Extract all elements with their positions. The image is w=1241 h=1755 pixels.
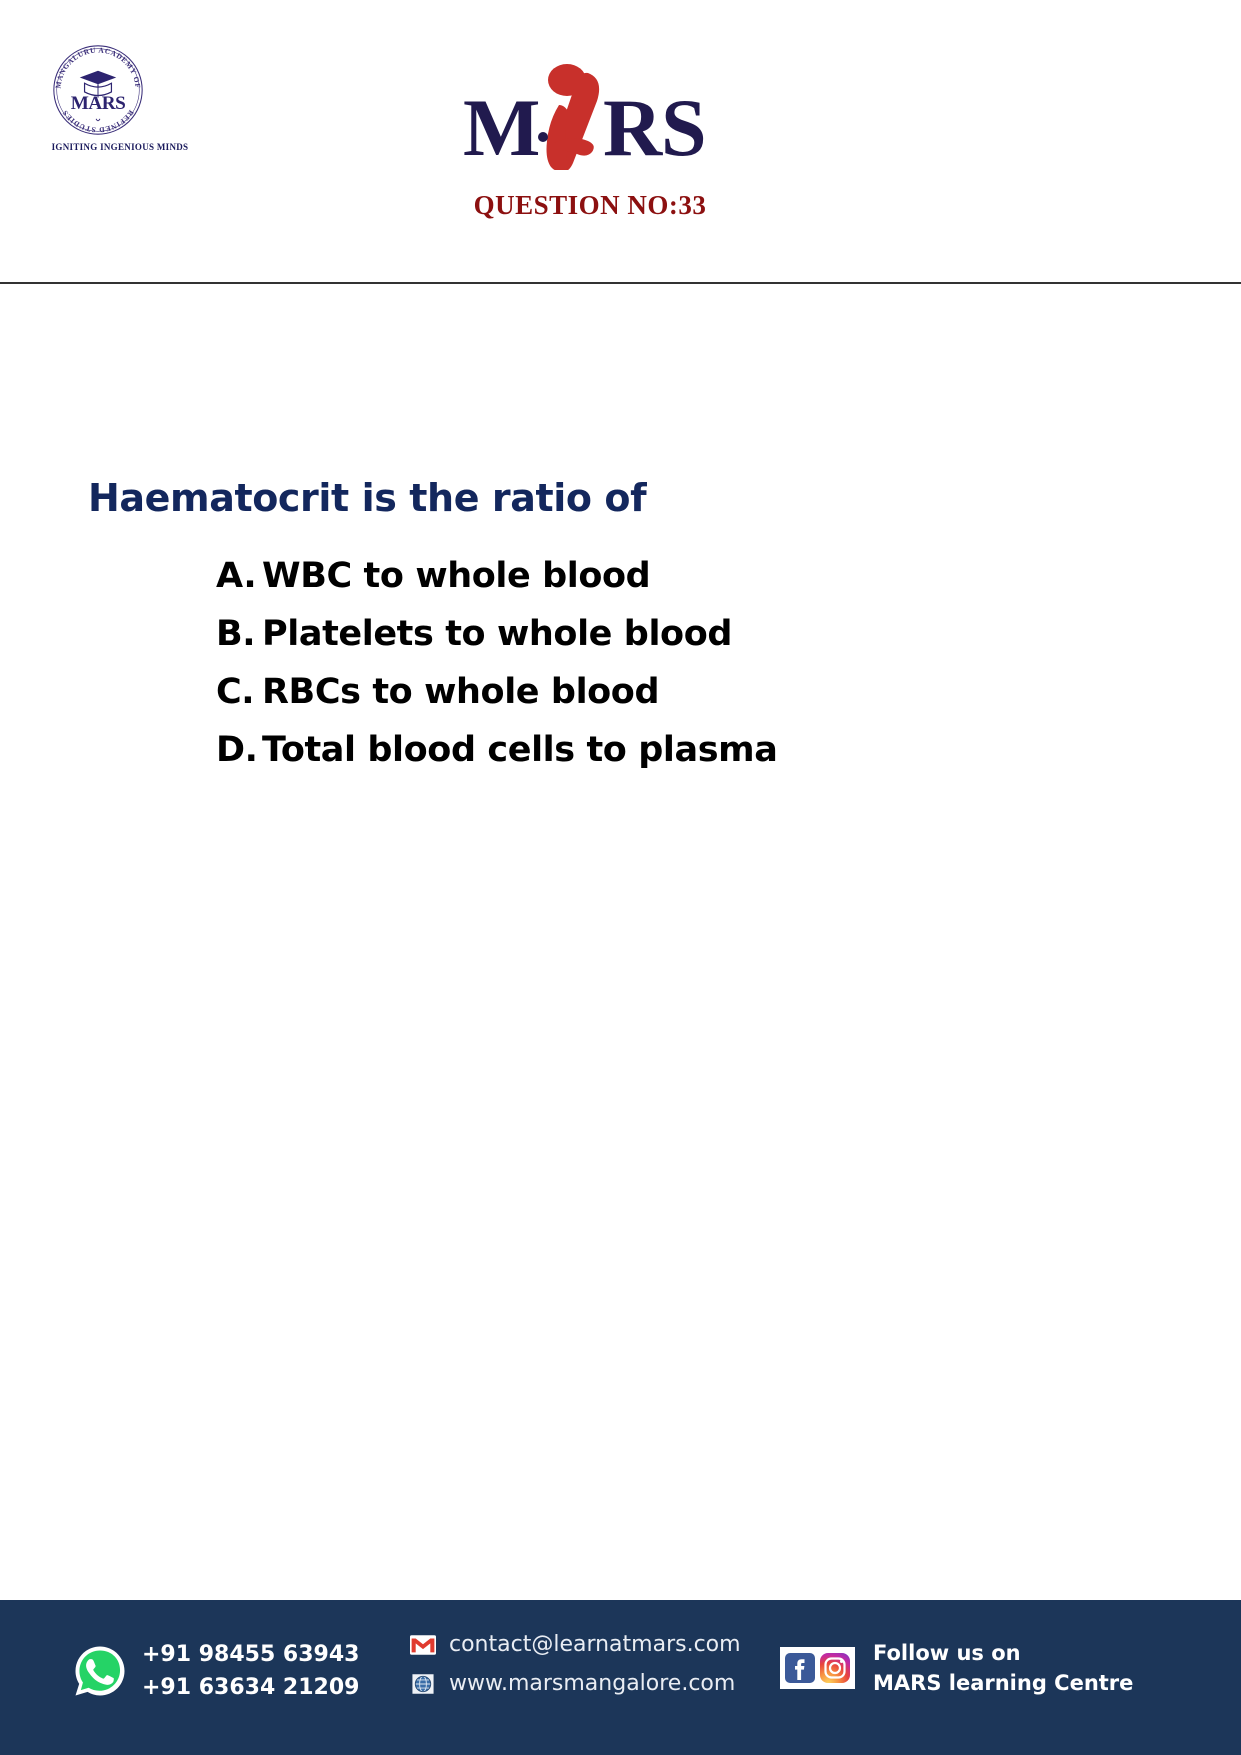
option-b[interactable]: B. Platelets to whole blood [216,614,1076,672]
mars-wordmark-icon: M R S [455,55,725,170]
option-d[interactable]: D. Total blood cells to plasma [216,730,1076,788]
globe-icon [410,1673,436,1695]
question-content: Haematocrit is the ratio of A. WBC to wh… [0,284,1241,1600]
academy-logo: MANGALURU ACADEMY OF REFINED STUDIES MAR… [40,42,200,167]
option-d-letter: D. [216,730,262,770]
gmail-icon [410,1634,436,1656]
option-c-text: RBCs to whole blood [262,672,659,712]
email-address: contact@learnatmars.com [449,1632,741,1657]
question-number-label: QUESTION NO:33 [0,190,1180,221]
page-footer: +91 98455 63943 +91 63634 21209 contact@… [0,1600,1241,1755]
option-d-text: Total blood cells to plasma [262,730,777,770]
social-icons-badge [780,1647,855,1689]
website-row[interactable]: www.marsmangalore.com [410,1671,741,1696]
social-caption: Follow us on MARS learning Centre [873,1638,1133,1698]
social-caption-line-2: MARS learning Centre [873,1668,1133,1698]
option-a[interactable]: A. WBC to whole blood [216,556,1076,614]
option-list: A. WBC to whole blood B. Platelets to wh… [216,556,1076,788]
footer-social-block: Follow us on MARS learning Centre [780,1638,1133,1698]
phone-number-2: +91 63634 21209 [142,1671,359,1704]
svg-text:MARS: MARS [71,93,126,114]
question-stem: Haematocrit is the ratio of [88,476,646,520]
phone-numbers: +91 98455 63943 +91 63634 21209 [142,1638,359,1704]
svg-text:M: M [463,82,540,170]
facebook-icon[interactable] [784,1652,816,1684]
svg-text:S: S [661,82,707,170]
option-c-letter: C. [216,672,262,712]
page-header: MANGALURU ACADEMY OF REFINED STUDIES MAR… [0,0,1241,284]
email-row[interactable]: contact@learnatmars.com [410,1632,741,1657]
website-url: www.marsmangalore.com [449,1671,735,1696]
option-b-letter: B. [216,614,262,654]
academy-tagline: IGNITING INGENIOUS MINDS [40,142,200,152]
academy-seal-icon: MANGALURU ACADEMY OF REFINED STUDIES MAR… [50,42,146,138]
whatsapp-icon[interactable] [72,1643,128,1699]
instagram-icon[interactable] [819,1652,851,1684]
footer-contact-block: +91 98455 63943 +91 63634 21209 [72,1638,359,1704]
phone-number-1: +91 98455 63943 [142,1638,359,1671]
option-b-text: Platelets to whole blood [262,614,732,654]
option-c[interactable]: C. RBCs to whole blood [216,672,1076,730]
svg-text:R: R [603,82,663,170]
option-a-text: WBC to whole blood [262,556,650,596]
social-caption-line-1: Follow us on [873,1638,1133,1668]
option-a-letter: A. [216,556,262,596]
footer-online-block: contact@learnatmars.com www.marsmangalor… [410,1632,741,1696]
